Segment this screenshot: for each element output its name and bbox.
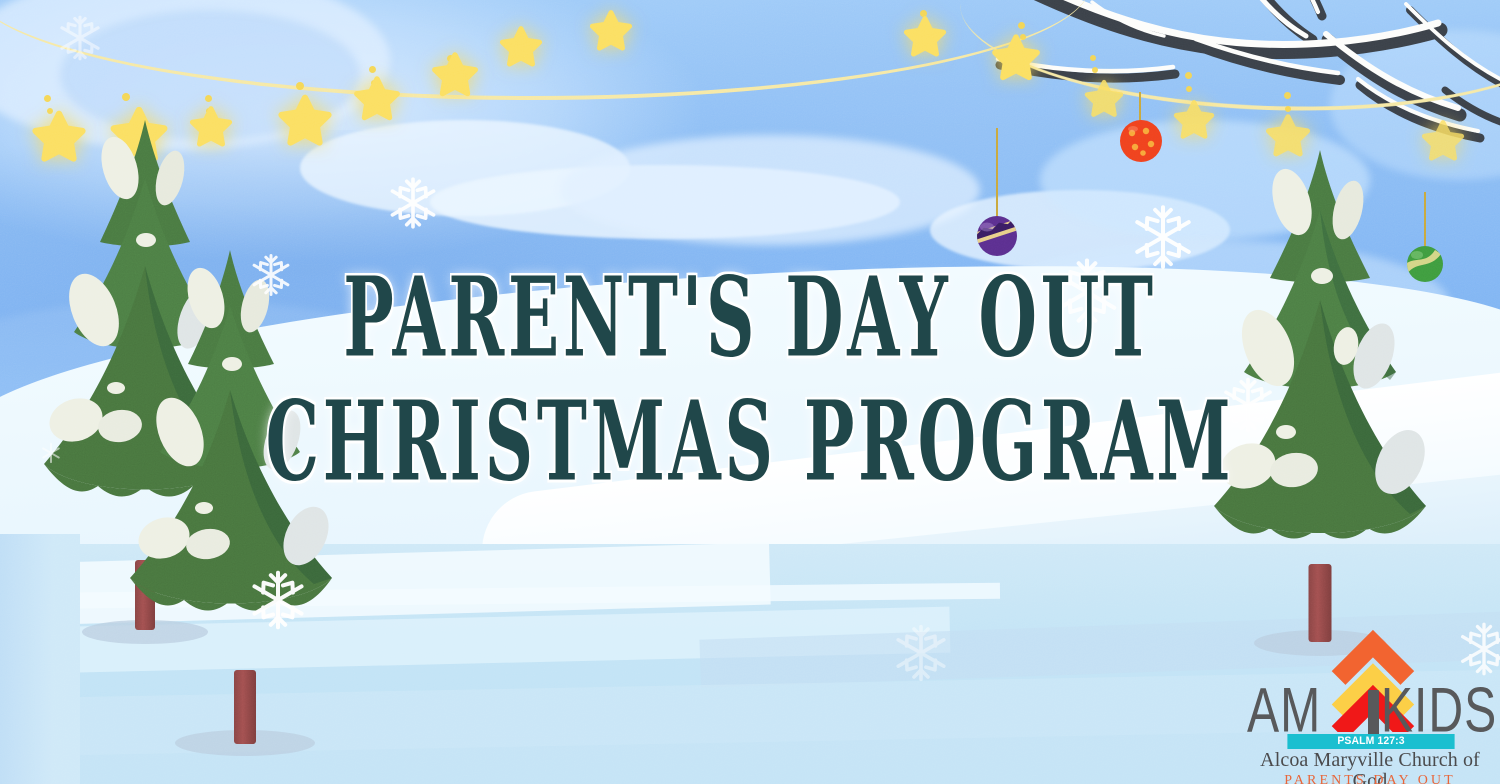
- light-droplet: [1186, 86, 1192, 92]
- title-line-1: Parent's Day Out: [150, 263, 1350, 372]
- logo-verse-badge: PSALM 127:3: [1287, 734, 1454, 749]
- hanging-star: [902, 14, 948, 60]
- logo-wordmark-kids: KIDS: [1381, 679, 1497, 742]
- hanging-star: [430, 50, 480, 100]
- hanging-star: [1172, 98, 1216, 142]
- light-droplet: [369, 66, 376, 73]
- banner-title: Parent's Day Out Christmas Program: [0, 276, 1500, 484]
- christmas-banner: Parent's Day Out Christmas Program AM KI…: [0, 0, 1500, 784]
- hanging-star: [498, 24, 544, 70]
- light-droplet: [1185, 72, 1192, 79]
- red-polka-ornament: [1118, 118, 1164, 164]
- logo-stem: [1368, 690, 1379, 740]
- light-droplet: [296, 82, 304, 90]
- hanging-star: [352, 74, 402, 124]
- title-line-2: Christmas Program: [150, 387, 1350, 496]
- snowflake: [890, 622, 952, 684]
- hanging-star: [990, 32, 1042, 84]
- light-droplet: [1090, 55, 1096, 61]
- hanging-star: [1083, 78, 1125, 120]
- ornament-string: [996, 128, 998, 218]
- hanging-star: [276, 92, 334, 150]
- hanging-star: [588, 8, 634, 54]
- logo-ministry-name: PARENTS DAY OUT: [1245, 774, 1495, 784]
- logo-wordmark-am: AM: [1247, 679, 1321, 742]
- snowflake: [54, 12, 106, 64]
- light-droplet: [1284, 92, 1291, 99]
- snowflake: [246, 568, 310, 632]
- purple-stripe-ornament: [975, 214, 1019, 258]
- cloud-center: [560, 135, 980, 245]
- light-droplet: [1018, 22, 1025, 29]
- am-kids-logo[interactable]: AM KIDS PSALM 127:3 Alcoa Maryville Chur…: [1245, 624, 1495, 782]
- light-droplet: [44, 95, 51, 102]
- light-droplet: [205, 95, 212, 102]
- light-droplet: [122, 93, 130, 101]
- light-droplet: [1092, 67, 1098, 73]
- snowflake: [385, 175, 441, 231]
